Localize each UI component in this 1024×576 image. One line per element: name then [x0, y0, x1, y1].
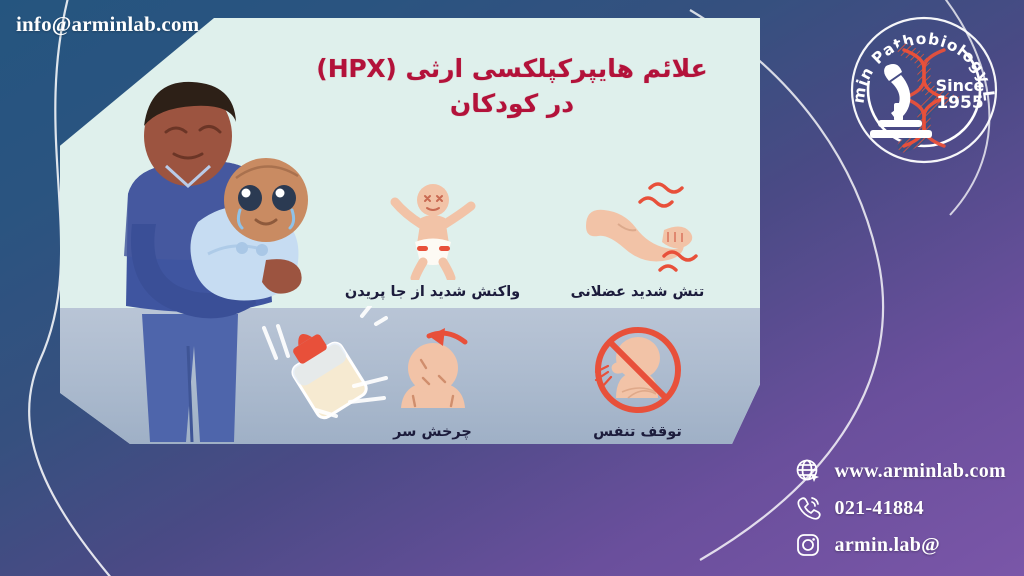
phone-number[interactable]: 021-41884 — [835, 497, 924, 520]
instagram-icon — [795, 532, 821, 558]
instagram-handle[interactable]: @armin.lab — [835, 534, 941, 557]
contact-block: www.arminlab.com 021-41884 @armin.lab — [795, 458, 1006, 558]
symptom-item-apnea[interactable]: توقف تنفس — [535, 300, 740, 440]
symptom-item-startle-reflex[interactable]: واکنش شدید از جا پریدن — [330, 160, 535, 300]
symptom-grid: تنش شدید عضلانی واکنش شدید از جا پریدن — [330, 160, 740, 440]
contact-row-instagram[interactable]: @armin.lab — [795, 532, 941, 558]
contact-row-website[interactable]: www.arminlab.com — [795, 458, 1006, 484]
infographic-canvas: info@arminlab.com Armin Pathobiology Lab — [0, 0, 1024, 576]
symptom-label: واکنش شدید از جا پریدن — [345, 284, 520, 300]
website-url[interactable]: www.arminlab.com — [835, 460, 1006, 483]
globe-icon — [795, 458, 821, 484]
phone-icon — [795, 495, 821, 521]
head-rotation-arrow-icon — [373, 320, 493, 420]
flexed-arm-icon — [578, 180, 698, 280]
email-address[interactable]: info@arminlab.com — [16, 12, 199, 37]
logo-since-year: 1955 — [936, 93, 983, 113]
contact-row-phone[interactable]: 021-41884 — [795, 495, 924, 521]
symptom-item-muscle-stiffness[interactable]: تنش شدید عضلانی — [535, 160, 740, 300]
symptom-label: تنش شدید عضلانی — [571, 284, 705, 300]
no-breathing-prohibited-icon — [578, 320, 698, 420]
symptom-item-head-turning[interactable]: چرخش سر — [330, 300, 535, 440]
symptom-label: توقف تنفس — [593, 424, 682, 440]
symptom-label: چرخش سر — [393, 424, 472, 440]
startled-baby-icon — [373, 180, 493, 280]
company-logo[interactable]: Armin Pathobiology Lab Since 1955 — [842, 8, 1006, 172]
